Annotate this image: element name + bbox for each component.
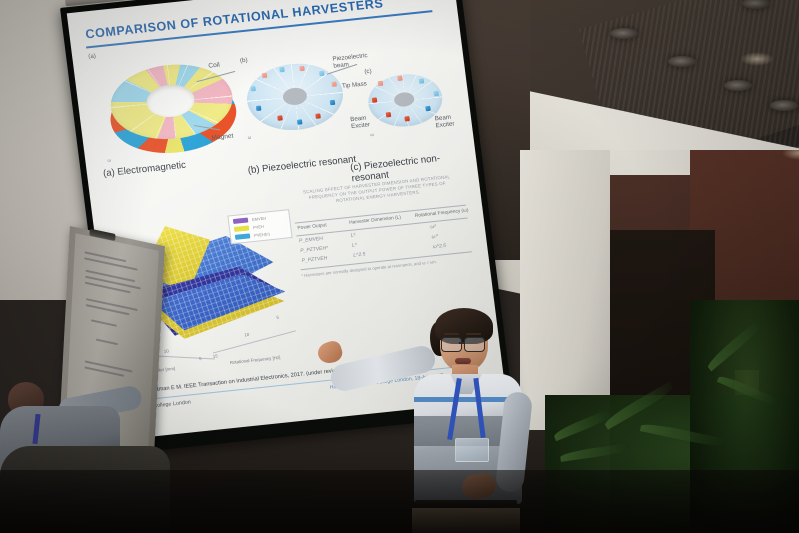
legend-label-pvehn: PVEH(n) [254, 231, 270, 238]
presenter-eyebrow [466, 333, 481, 335]
tip-mass [299, 66, 305, 71]
panel-marker-c: (c) [364, 68, 372, 76]
table-cell-frequency: ω^2.5 [433, 243, 447, 250]
tip-mass [262, 73, 268, 78]
ceiling-downlight [610, 28, 638, 39]
tip-mass [404, 116, 410, 121]
ceiling-light-glow [740, 52, 774, 66]
tip-mass [433, 91, 439, 96]
label-omega-a: ω [107, 157, 111, 162]
label-beam-exciter-b: Beam Exciter [350, 114, 376, 131]
label-omega-b: ω [247, 135, 251, 140]
tip-mass [378, 81, 384, 86]
presentation-photo: COMPARISON OF ROTATIONAL HARVESTERS (a) … [0, 0, 799, 533]
presenter-eyebrow [444, 333, 459, 335]
glasses-icon [464, 337, 485, 352]
tip-mass [386, 112, 392, 117]
label-beam-exciter-c: Beam Exciter [434, 113, 460, 130]
tip-mass [297, 119, 303, 124]
tip-mass [250, 86, 256, 91]
label-tip-mass: Tip Mass [342, 80, 368, 90]
legend-swatch-emveh [233, 217, 249, 224]
tip-mass [372, 97, 378, 102]
legend-swatch-pvehn [235, 233, 251, 240]
tip-mass [315, 113, 321, 118]
legend-label-emveh: EMVEH [252, 215, 267, 221]
foreground-shadow [0, 470, 799, 533]
legend-swatch-pveh [234, 225, 250, 232]
tip-mass [425, 106, 431, 111]
ceiling-downlight [724, 80, 752, 91]
tip-mass [330, 100, 336, 105]
conference-badge [455, 438, 489, 462]
glasses-icon [441, 337, 462, 352]
table-cell-frequency: ω⁰ [431, 234, 438, 241]
tip-mass [277, 115, 283, 120]
label-coil: Coil [208, 62, 220, 70]
label-piezoelectric-beam: Piezoelectric beam [332, 51, 383, 70]
glasses-bridge [459, 342, 465, 344]
plot-legend: EMVEH PVEH PVEH(n) [227, 209, 292, 244]
electromagnetic-torus-diagram [104, 55, 241, 159]
tip-mass [319, 71, 325, 76]
table-header-power-output: Power Output [297, 223, 327, 231]
label-omega-c: ω [370, 132, 374, 137]
legend-label-pveh: PVEH [253, 223, 264, 229]
caption-electromagnetic: (a) Electromagnetic [102, 160, 186, 180]
ceiling-downlight [770, 100, 798, 111]
table-cell-dimension: L^2.5 [353, 251, 366, 258]
presenter-mouth [455, 358, 471, 364]
xtick-5: 5 [199, 356, 202, 361]
panel-marker-a: (a) [88, 53, 96, 61]
table-cell-dimension: L⁵ [350, 232, 356, 238]
table-cell-output: P_EMVEH [299, 236, 324, 244]
ytick-5: 5 [276, 315, 279, 320]
caption-piezoelectric-resonant: (b) Piezoelectric resonant [247, 154, 357, 176]
tip-mass [397, 76, 403, 81]
tip-mass [279, 67, 285, 72]
ytick-10: 10 [244, 332, 249, 337]
tip-mass [256, 106, 262, 111]
table-cell-output: P_PZTVEH [301, 255, 327, 264]
plot-y-axis [213, 330, 296, 353]
table-cell-output: P_PZTVEH* [300, 245, 328, 254]
tip-mass [331, 81, 337, 86]
tip-mass [419, 78, 425, 83]
ceiling-downlight [668, 56, 696, 67]
table-cell-frequency: ω² [430, 224, 436, 231]
xtick-15: 15 [213, 353, 218, 358]
table-cell-dimension: L³ [352, 242, 357, 248]
plot-ylabel: Rotational Frequency [Hz] [229, 355, 280, 365]
panel-marker-b: (b) [240, 57, 248, 65]
